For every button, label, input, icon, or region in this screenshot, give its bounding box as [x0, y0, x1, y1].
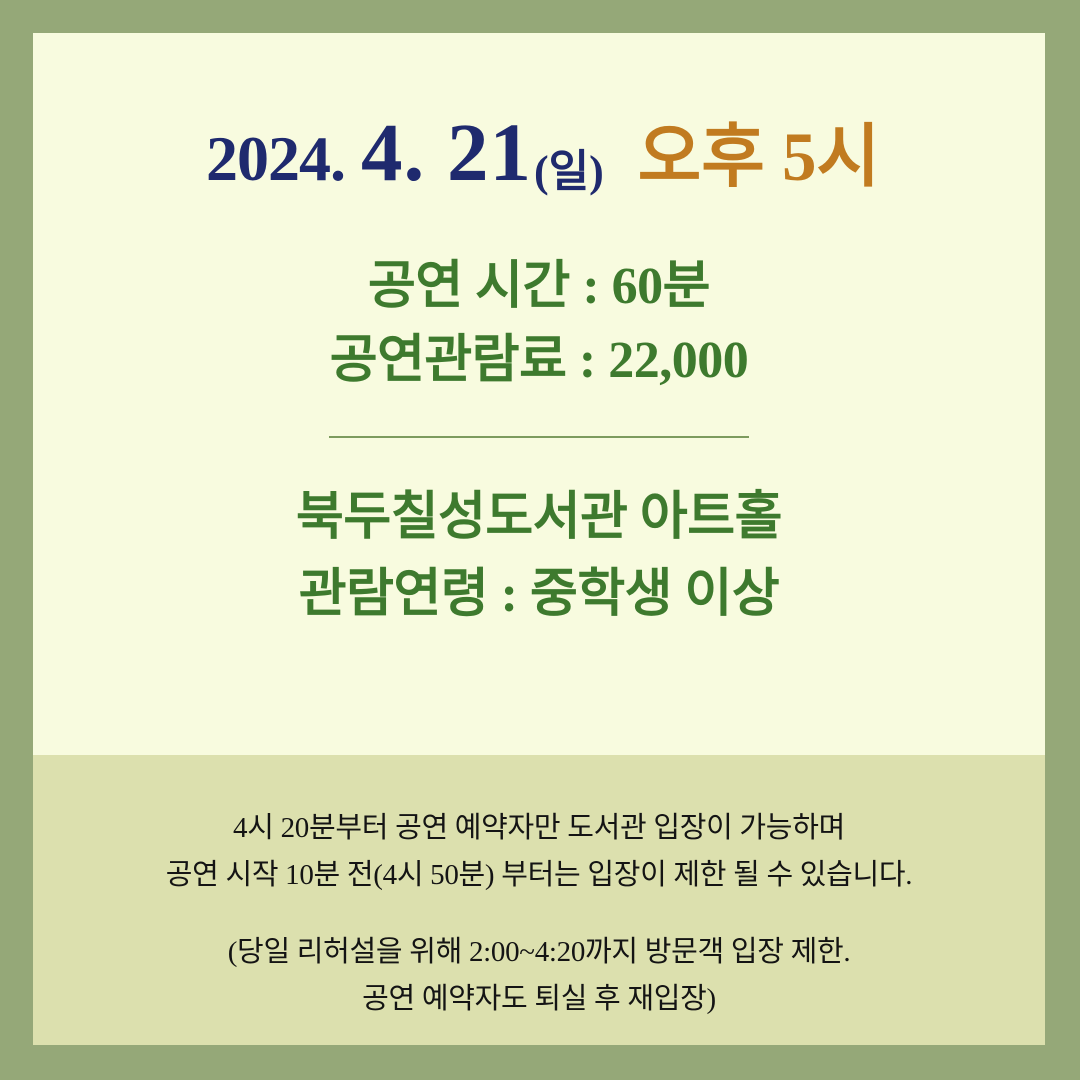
poster-frame: 2024. 4. 21 (일) 오후 5시 공연 시간 : 60분 공연관람료 …: [0, 0, 1080, 1080]
notice-line-3: (당일 리허설을 위해 2:00~4:20까지 방문객 입장 제한.: [33, 929, 1045, 976]
event-start-time: 오후 5시: [638, 123, 880, 192]
section-divider: [329, 436, 749, 438]
venue-age-rating: 관람연령 : 중학생 이상: [33, 557, 1045, 634]
venue-name: 북두칠성도서관 아트홀: [33, 480, 1045, 557]
notice-line-4: 공연 예약자도 퇴실 후 재입장): [33, 976, 1045, 1023]
section-divider-wrap: [33, 436, 1045, 438]
event-weekday: (일): [534, 150, 604, 194]
performance-duration: 공연 시간 : 60분: [33, 250, 1045, 324]
notice-line-1: 4시 20분부터 공연 예약자만 도서관 입장이 가능하며: [33, 805, 1045, 852]
event-date-headline: 2024. 4. 21 (일) 오후 5시: [33, 111, 1045, 194]
poster-card: 2024. 4. 21 (일) 오후 5시 공연 시간 : 60분 공연관람료 …: [33, 33, 1045, 1045]
notice-band: 4시 20분부터 공연 예약자만 도서관 입장이 가능하며 공연 시작 10분 …: [33, 755, 1045, 1045]
notice-paragraph-entry: 4시 20분부터 공연 예약자만 도서관 입장이 가능하며 공연 시작 10분 …: [33, 805, 1045, 899]
venue-info-block: 북두칠성도서관 아트홀 관람연령 : 중학생 이상: [33, 480, 1045, 634]
notice-paragraph-rehearsal: (당일 리허설을 위해 2:00~4:20까지 방문객 입장 제한. 공연 예약…: [33, 929, 1045, 1023]
performance-info-block: 공연 시간 : 60분 공연관람료 : 22,000: [33, 250, 1045, 398]
event-year: 2024.: [206, 127, 345, 191]
notice-line-2: 공연 시작 10분 전(4시 50분) 부터는 입장이 제한 될 수 있습니다.: [33, 852, 1045, 899]
event-month-day: 4. 21: [361, 111, 532, 194]
main-content-area: 2024. 4. 21 (일) 오후 5시 공연 시간 : 60분 공연관람료 …: [33, 33, 1045, 755]
performance-price: 공연관람료 : 22,000: [33, 324, 1045, 398]
